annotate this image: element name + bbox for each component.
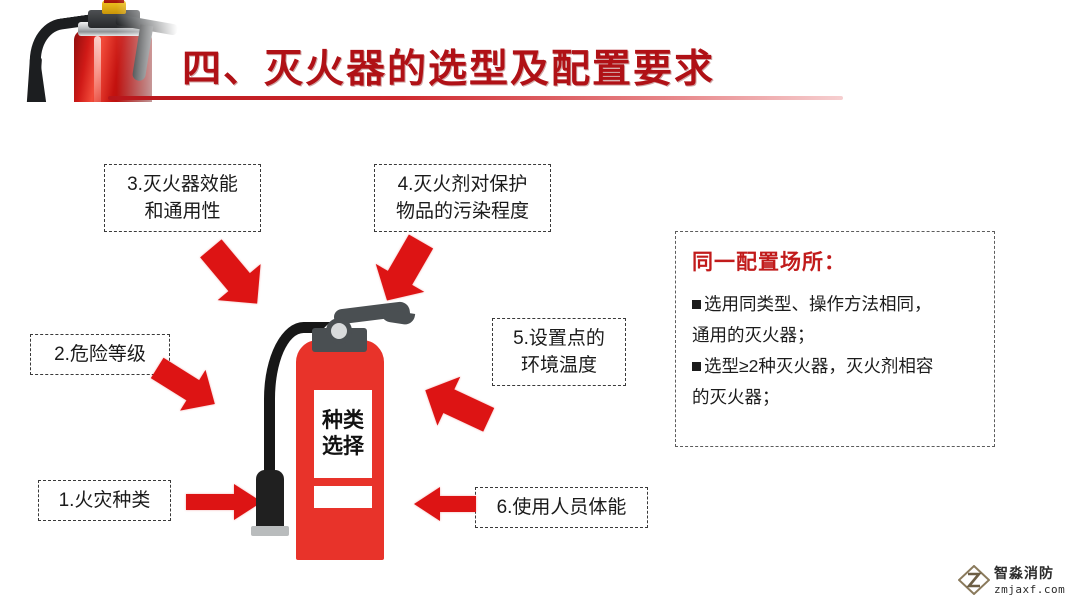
arrow-box1-to-center xyxy=(186,484,262,520)
page-title: 四、灭火器的选型及配置要求 xyxy=(182,38,715,94)
photo-fade-mask xyxy=(12,0,192,102)
watermark-en: zmjaxf.com xyxy=(994,583,1065,596)
info-panel-line-4: 的灭火器； xyxy=(692,382,978,413)
extinguisher-nozzle xyxy=(256,470,284,530)
arrow-box2-to-center xyxy=(150,358,222,414)
extinguisher-label-line2: 选择 xyxy=(322,434,364,460)
bullet-square-icon xyxy=(692,300,701,309)
extinguisher-hose-lower xyxy=(264,422,275,474)
info-panel-line-1: 选用同类型、操作方法相同， xyxy=(692,289,978,320)
arrow-box3-to-center xyxy=(196,240,272,312)
factor-box-5[interactable]: 5.设置点的 环境温度 xyxy=(492,318,626,386)
extinguisher-label-band xyxy=(314,486,372,508)
watermark: 智淼消防 zmjaxf.com xyxy=(958,561,1074,601)
extinguisher-label-line1: 种类 xyxy=(322,408,364,434)
watermark-cn: 智淼消防 xyxy=(994,563,1065,583)
watermark-text: 智淼消防 zmjaxf.com xyxy=(994,563,1065,596)
factor-box-4[interactable]: 4.灭火剂对保护 物品的污染程度 xyxy=(374,164,551,232)
extinguisher-gauge xyxy=(326,318,352,344)
title-underline xyxy=(108,96,843,100)
info-panel-title: 同一配置场所： xyxy=(692,246,978,276)
info-panel-line-2: 通用的灭火器； xyxy=(692,320,978,351)
slide-canvas: 四、灭火器的选型及配置要求 3.灭火器效能 和通用性 4.灭火剂对保护 物品的污… xyxy=(0,0,1080,608)
bullet-square-icon xyxy=(692,362,701,371)
extinguisher-nozzle-foot xyxy=(251,526,289,536)
info-panel-text-3: 选型≥2种灭火器，灭火剂相容 xyxy=(704,356,933,376)
info-panel: 同一配置场所： 选用同类型、操作方法相同， 通用的灭火器； 选型≥2种灭火器，灭… xyxy=(675,231,995,447)
fire-extinguisher-illustration: 种类 选择 xyxy=(252,312,438,560)
factor-box-1[interactable]: 1.火灾种类 xyxy=(38,480,171,521)
extinguisher-label: 种类 选择 xyxy=(314,390,372,478)
arrow-box4-to-center xyxy=(368,236,440,306)
factor-box-3[interactable]: 3.灭火器效能 和通用性 xyxy=(104,164,261,232)
factor-box-2[interactable]: 2.危险等级 xyxy=(30,334,170,375)
factor-box-6[interactable]: 6.使用人员体能 xyxy=(475,487,648,528)
info-panel-text-1: 选用同类型、操作方法相同， xyxy=(704,294,932,314)
info-panel-line-3: 选型≥2种灭火器，灭火剂相容 xyxy=(692,351,978,382)
diamond-logo-icon xyxy=(958,565,990,595)
fire-extinguisher-photo xyxy=(12,0,192,102)
